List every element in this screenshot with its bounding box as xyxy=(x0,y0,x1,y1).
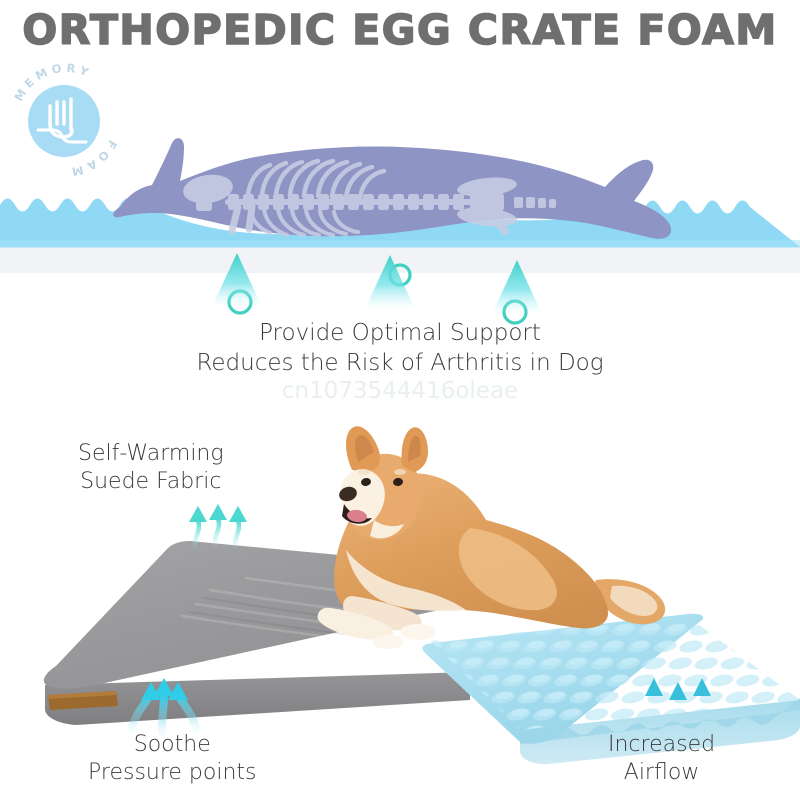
base-band xyxy=(0,245,800,273)
shiba-inu-dog xyxy=(318,426,666,649)
support-benefit-text: Provide Optimal Support Reduces the Risk… xyxy=(0,318,800,378)
callout-soothe-line1: Soothe xyxy=(88,731,257,759)
callout-soothe-line2: Pressure points xyxy=(88,759,257,787)
callout-airflow-line1: Increased xyxy=(608,731,715,759)
infographic-page: ORTHOPEDIC EGG CRATE FOAM MEMORY xyxy=(0,0,800,800)
page-title: ORTHOPEDIC EGG CRATE FOAM xyxy=(0,6,800,54)
callout-airflow: Increased Airflow xyxy=(608,731,715,787)
support-text-line1: Provide Optimal Support xyxy=(0,318,800,348)
orthopedic-support-diagram xyxy=(0,95,800,280)
self-warming-arrowheads xyxy=(189,504,247,522)
callout-self-warming: Self-Warming Suede Fabric xyxy=(78,440,224,496)
callout-soothe: Soothe Pressure points xyxy=(88,731,257,787)
support-text-line2: Reduces the Risk of Arthritis in Dog xyxy=(0,348,800,378)
callout-airflow-line2: Airflow xyxy=(608,759,715,787)
callout-self-warming-line1: Self-Warming xyxy=(78,440,224,468)
dog-paw xyxy=(400,624,436,640)
callout-self-warming-line2: Suede Fabric xyxy=(78,468,224,496)
dog-paw-second xyxy=(372,635,404,649)
